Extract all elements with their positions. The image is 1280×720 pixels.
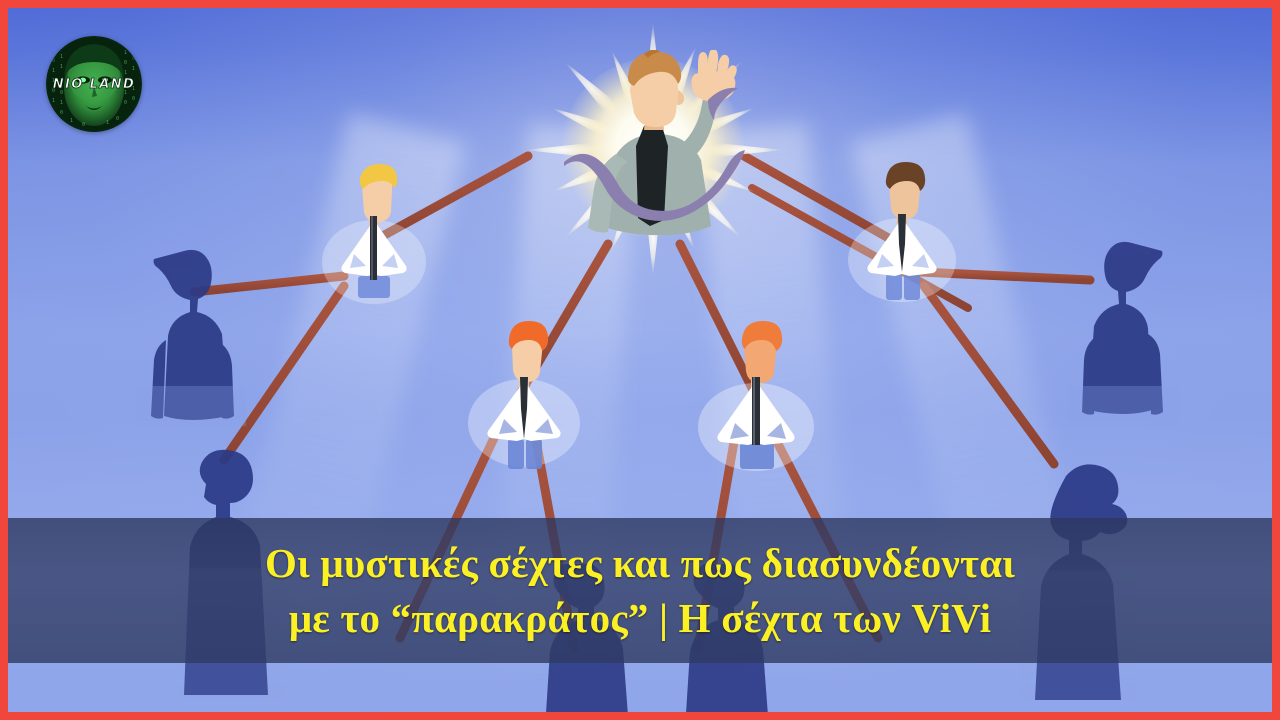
thumbnail-stage: 101 101 011 010 101 100 110 101 0 NIO LA… xyxy=(8,8,1272,712)
svg-text:1: 1 xyxy=(132,66,135,72)
svg-text:1: 1 xyxy=(60,64,63,70)
lieutenant-orange-center-right xyxy=(690,315,822,505)
svg-text:0: 0 xyxy=(82,122,85,128)
svg-text:1: 1 xyxy=(60,54,63,60)
lieutenant-blonde-left xyxy=(314,158,434,338)
svg-text:1: 1 xyxy=(52,68,55,74)
leader-body xyxy=(558,50,748,260)
caption-line-2: με το “παρακράτος” | Η σέχτα των ViVi xyxy=(289,594,991,642)
svg-text:0: 0 xyxy=(132,96,135,102)
svg-text:0: 0 xyxy=(116,116,119,122)
svg-text:1: 1 xyxy=(60,100,63,106)
svg-text:1: 1 xyxy=(70,118,73,124)
svg-text:0: 0 xyxy=(124,100,127,106)
video-thumbnail: 101 101 011 010 101 100 110 101 0 NIO LA… xyxy=(0,0,1280,720)
svg-text:0: 0 xyxy=(60,110,63,116)
nio-land-channel-avatar[interactable]: 101 101 011 010 101 100 110 101 0 NIO LA… xyxy=(46,36,142,132)
follower-silhouette-far-right xyxy=(1068,230,1180,426)
svg-text:1: 1 xyxy=(106,120,109,126)
lieutenant-brunette-right xyxy=(840,156,964,338)
svg-text:1: 1 xyxy=(52,98,55,104)
lieutenant-redhead-center-left xyxy=(460,313,588,503)
caption-line-1: Οι μυστικές σέχτες και πως διασυνδέονται xyxy=(265,539,1015,587)
logo-wordmark: NIO LAND xyxy=(53,77,136,92)
glowing-leader-figure xyxy=(508,16,798,296)
follower-silhouette-far-left xyxy=(136,236,246,426)
svg-text:0: 0 xyxy=(124,60,127,66)
caption-bar: Οι μυστικές σέχτες και πως διασυνδέονται… xyxy=(8,518,1272,663)
svg-text:1: 1 xyxy=(124,70,127,76)
